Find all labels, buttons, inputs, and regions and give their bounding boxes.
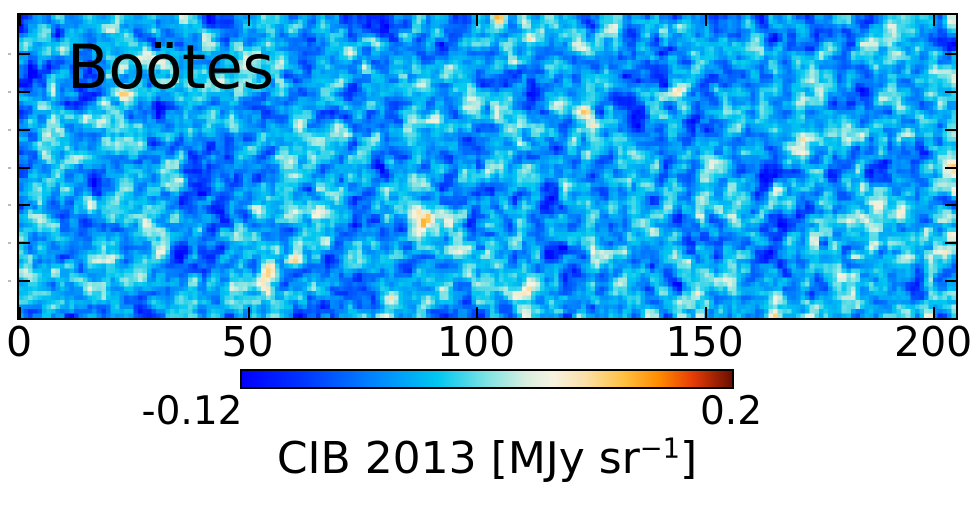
- colorbar-gradient: [240, 369, 734, 389]
- x-tick-label-200: 200: [894, 322, 972, 363]
- y-minor-tick-left-5: [19, 204, 30, 206]
- x-tick-0: [19, 307, 21, 318]
- x-tick-50: [248, 307, 250, 318]
- y-outer-mark-2: [8, 91, 11, 93]
- y-outer-mark-1: [8, 53, 11, 55]
- x-axis-tick-labels: 050100150200: [0, 322, 975, 370]
- y-minor-tick-right-4: [945, 167, 956, 169]
- colorbar-caption-main: CIB 2013 [MJy sr: [277, 433, 640, 484]
- y-minor-tick-left-3: [19, 129, 30, 131]
- y-outer-mark-3: [8, 129, 11, 131]
- x-tick-150: [705, 307, 707, 318]
- x-tick-label-0: 0: [6, 322, 32, 363]
- y-minor-tick-right-5: [945, 204, 956, 206]
- colorbar-caption-close: ]: [680, 433, 697, 484]
- x-tick-top-150: [705, 15, 707, 26]
- y-outer-mark-4: [8, 167, 11, 169]
- map-title-label: Boötes: [67, 37, 274, 98]
- x-tick-200: [933, 307, 935, 318]
- x-tick-top-200: [933, 15, 935, 26]
- colorbar-max-label: 0.2: [700, 392, 762, 431]
- colorbar-min-label: -0.12: [142, 392, 243, 431]
- colorbar-container: [240, 369, 734, 389]
- heatmap-panel: Boötes: [17, 13, 958, 320]
- y-outer-mark-6: [8, 242, 11, 244]
- x-tick-label-50: 50: [221, 322, 273, 363]
- y-minor-tick-left-6: [19, 242, 30, 244]
- x-tick-top-50: [248, 15, 250, 26]
- y-minor-tick-right-1: [945, 53, 956, 55]
- colorbar-caption-exponent: −1: [640, 433, 680, 464]
- x-tick-label-100: 100: [437, 322, 515, 363]
- x-tick-100: [476, 307, 478, 318]
- y-minor-tick-left-4: [19, 167, 30, 169]
- x-tick-top-100: [476, 15, 478, 26]
- y-minor-tick-left-2: [19, 91, 30, 93]
- colorbar-caption: CIB 2013 [MJy sr−1]: [277, 437, 697, 481]
- figure-root: Boötes 050100150200 -0.12 0.2 CIB 2013 […: [0, 0, 975, 505]
- y-minor-tick-left-7: [19, 280, 30, 282]
- x-tick-top-0: [19, 15, 21, 26]
- y-minor-tick-right-7: [945, 280, 956, 282]
- y-outer-mark-5: [8, 204, 11, 206]
- y-minor-tick-right-3: [945, 129, 956, 131]
- x-tick-label-150: 150: [665, 322, 743, 363]
- y-minor-tick-right-2: [945, 91, 956, 93]
- y-minor-tick-right-6: [945, 242, 956, 244]
- y-outer-mark-7: [8, 280, 11, 282]
- y-minor-tick-left-1: [19, 53, 30, 55]
